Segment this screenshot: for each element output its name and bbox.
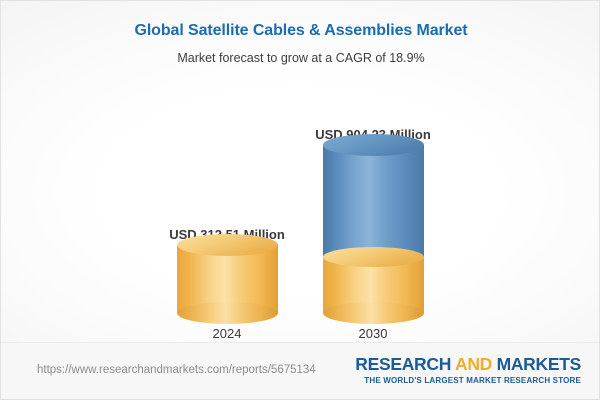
page-title: Global Satellite Cables & Assemblies Mar… bbox=[1, 21, 600, 41]
logo-word-markets: MARKETS bbox=[497, 354, 581, 374]
bar-segment-growth-2030 bbox=[323, 145, 424, 257]
axis-label-2024: 2024 bbox=[147, 326, 307, 341]
bar-segment-divider-2030 bbox=[323, 247, 424, 267]
logo-word-and: AND bbox=[455, 354, 492, 374]
research-and-markets-logo[interactable]: RESEARCH AND MARKETS THE WORLD'S LARGEST… bbox=[355, 354, 581, 385]
bar-cylinder-2024 bbox=[177, 245, 278, 313]
axis-label-2030: 2030 bbox=[293, 326, 453, 341]
footer-bar: https://www.researchandmarkets.com/repor… bbox=[1, 342, 599, 399]
bar-top-cap-2030 bbox=[323, 134, 424, 156]
chart-subtitle: Market forecast to grow at a CAGR of 18.… bbox=[1, 50, 600, 66]
report-url[interactable]: https://www.researchandmarkets.com/repor… bbox=[37, 364, 316, 376]
logo-word-research: RESEARCH bbox=[355, 354, 451, 374]
logo-wordmark: RESEARCH AND MARKETS bbox=[355, 354, 581, 374]
bar-cylinder-2030 bbox=[323, 145, 424, 313]
chart-plot-area: USD 312.51 Million 2024 USD 904.23 Milli… bbox=[1, 86, 600, 341]
logo-tagline: THE WORLD'S LARGEST MARKET RESEARCH STOR… bbox=[355, 376, 581, 385]
chart-header: Global Satellite Cables & Assemblies Mar… bbox=[1, 1, 600, 66]
bar-bottom-cap-2024 bbox=[177, 302, 278, 324]
bar-bottom-cap-2030 bbox=[323, 302, 424, 324]
bar-top-cap-2024 bbox=[177, 234, 278, 256]
market-infographic: Global Satellite Cables & Assemblies Mar… bbox=[0, 0, 600, 400]
